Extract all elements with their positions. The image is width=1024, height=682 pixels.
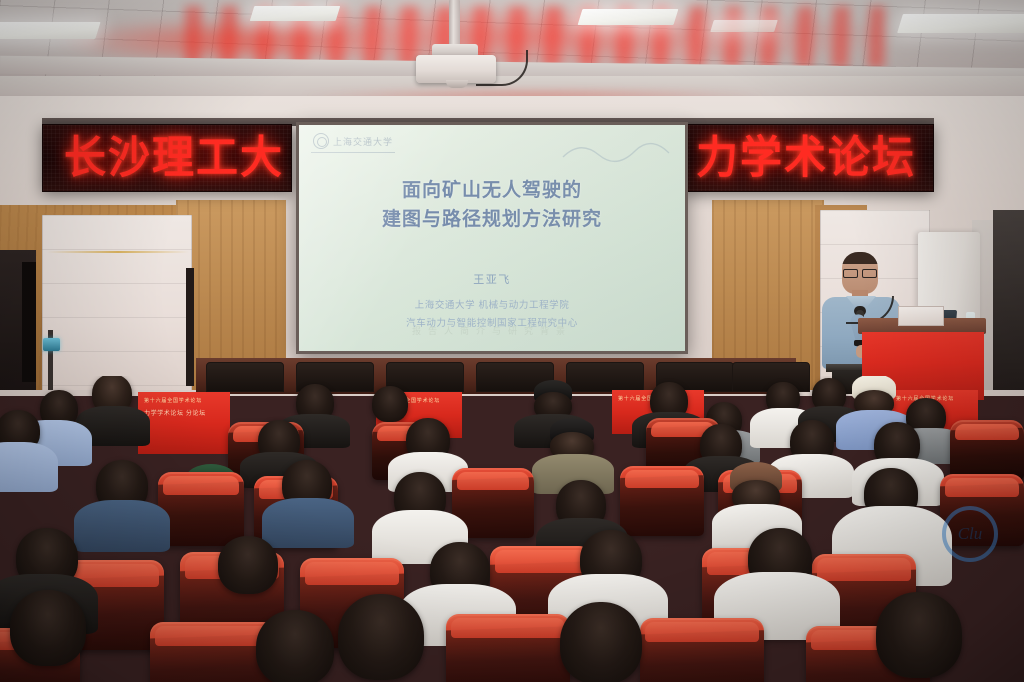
podium-name-card <box>898 306 944 326</box>
audience-head <box>560 602 642 682</box>
auditorium-seat <box>158 472 244 546</box>
tshirt-logo: Clu <box>942 506 998 562</box>
wall-dark-edge <box>993 210 1024 390</box>
ceiling-light-panel <box>897 14 1024 33</box>
camera-icon <box>43 338 60 351</box>
audience-shoulders <box>262 498 354 548</box>
auditorium-seat <box>950 420 1024 480</box>
audience-head <box>256 610 334 682</box>
audience-shoulders <box>0 442 58 492</box>
projector-mount-pole <box>449 0 460 48</box>
led-banner-left-text: 长沙理工大 <box>64 136 284 180</box>
auditorium-seat <box>446 614 570 682</box>
ceiling-projector <box>416 55 496 83</box>
glasses-icon <box>842 269 878 276</box>
wall-dark-recess <box>22 262 36 382</box>
audience-head <box>338 594 424 680</box>
ceiling-light-panel <box>250 6 341 21</box>
auditorium-seat <box>640 618 764 682</box>
university-seal-icon <box>313 133 329 149</box>
ceiling-light-panel <box>578 9 679 25</box>
projection-screen: 上海交通大学 面向矿山无人驾驶的 建图与路径规划方法研究 王亚飞 上海交通大学 … <box>299 125 685 351</box>
audience-head <box>10 590 86 666</box>
slide-title: 面向矿山无人驾驶的 建图与路径规划方法研究 <box>299 177 685 235</box>
panel-gold-line <box>47 251 189 253</box>
audience-shoulders <box>74 500 170 552</box>
white-wall-panel <box>42 215 192 390</box>
slide-presenter-name: 王亚飞 <box>299 271 685 287</box>
audience-head <box>876 592 962 678</box>
projection-screen-frame: 上海交通大学 面向矿山无人驾驶的 建图与路径规划方法研究 王亚飞 上海交通大学 … <box>296 122 688 354</box>
projector-lens <box>446 80 468 88</box>
audience-head <box>218 536 278 594</box>
auditorium-seat <box>620 466 704 536</box>
lecture-hall-photo: 长沙理工大 力学术论坛 上海交通大学 面向矿山无人驾驶的 建图与路径规划方法研究… <box>0 0 1024 682</box>
slide-affiliation-line1: 上海交通大学 机械与动力工程学院 <box>299 297 685 315</box>
led-banner-right-text: 力学术论坛 <box>696 136 916 180</box>
university-logo-text: 上海交通大学 <box>333 135 393 148</box>
wall-trim-strip <box>186 268 194 386</box>
led-banner-right: 力学术论坛 <box>684 124 934 192</box>
logo-underline <box>311 152 395 153</box>
audience-head <box>372 386 408 422</box>
ceiling-light-panel <box>710 20 778 32</box>
slide-title-line2: 建图与路径规划方法研究 <box>299 206 685 235</box>
slide-footer-text: 报告人简介与研究背景 <box>299 324 685 337</box>
slide-title-line1: 面向矿山无人驾驶的 <box>299 177 685 206</box>
ceiling-light-panel <box>0 22 101 39</box>
audience-area: Clu <box>0 376 1024 682</box>
led-banner-left: 长沙理工大 <box>42 124 292 192</box>
university-logo: 上海交通大学 <box>313 133 393 149</box>
decorative-wave-icon <box>561 141 671 163</box>
